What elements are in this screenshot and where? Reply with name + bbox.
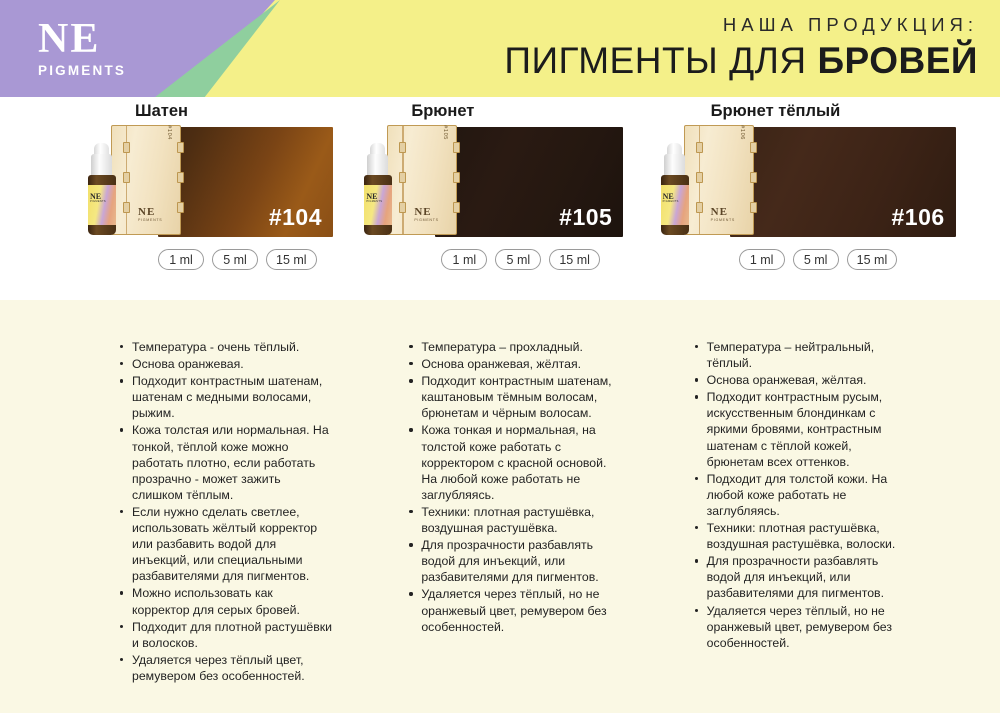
box-joint: [453, 202, 460, 213]
volume-option-15ml[interactable]: 15 ml: [847, 249, 898, 270]
description-item: Техники: плотная растушёвка, воздушная р…: [693, 520, 898, 552]
box-joint: [750, 142, 757, 153]
product-card[interactable]: Брюнет тёплый #106 #106 NEPIGMENTS N: [667, 97, 1000, 300]
bottle-body: NEPIGMENTS: [661, 175, 689, 235]
bottle-brand-label: NEPIGMENTS: [663, 193, 679, 204]
volume-options: 1 ml 5 ml 15 ml: [441, 249, 600, 270]
product-title: Брюнет: [411, 102, 474, 121]
description-item: Подходит для плотной растушёвки и волоск…: [118, 619, 333, 651]
product-title: Брюнет тёплый: [711, 102, 841, 121]
wooden-box-icon: #105 NEPIGMENTS: [387, 125, 457, 235]
bottle-brand-label: NEPIGMENTS: [90, 193, 106, 204]
product-photo: #106 NEPIGMENTS NEPIGMENTS: [658, 123, 766, 243]
header-title-bold: БРОВЕЙ: [817, 40, 978, 81]
description-item: Кожа тонкая и нормальная, на толстой кож…: [407, 422, 619, 502]
box-code-label: #104: [166, 125, 172, 140]
volume-option-1ml[interactable]: 1 ml: [158, 249, 204, 270]
box-joint: [177, 202, 184, 213]
box-joint: [696, 172, 703, 183]
header-kicker: НАША ПРОДУКЦИЯ:: [504, 14, 978, 36]
brand-logo-name: NE: [38, 20, 126, 60]
volume-options: 1 ml 5 ml 15 ml: [158, 249, 317, 270]
description-item: Для прозрачности разбавлять водой для ин…: [407, 537, 619, 585]
product-photo: #105 NEPIGMENTS NEPIGMENTS: [361, 123, 469, 243]
product-card[interactable]: Шатен #104 #104 NEPIGMENTS NEPIGMENT: [0, 97, 333, 300]
box-brand-label: NEPIGMENTS: [138, 206, 162, 222]
description-list: Температура – нейтральный, тёплый.Основа…: [693, 339, 898, 651]
header-title: ПИГМЕНТЫ ДЛЯ БРОВЕЙ: [504, 40, 978, 82]
bottle-label: NEPIGMENTS: [661, 185, 689, 225]
description-item: Температура – нейтральный, тёплый.: [693, 339, 898, 371]
description-item: Основа оранжевая, жёлтая.: [407, 356, 619, 372]
product-cards-row: Шатен #104 #104 NEPIGMENTS NEPIGMENT: [0, 97, 1000, 300]
description-item: Основа оранжевая.: [118, 356, 333, 372]
box-code-label: #106: [739, 125, 745, 140]
description-column: Температура – нейтральный, тёплый.Основа…: [667, 300, 1000, 713]
volume-option-1ml[interactable]: 1 ml: [441, 249, 487, 270]
brand-logo: NE PIGMENTS: [38, 20, 126, 78]
description-item: Температура - очень тёплый.: [118, 339, 333, 355]
description-item: Удаляется через тёплый, но не оранжевый …: [693, 603, 898, 651]
box-joint: [750, 172, 757, 183]
box-joint: [399, 202, 406, 213]
volume-option-5ml[interactable]: 5 ml: [495, 249, 541, 270]
volume-options: 1 ml 5 ml 15 ml: [739, 249, 898, 270]
pigment-bottle-icon: NEPIGMENTS: [660, 143, 690, 235]
description-item: Для прозрачности разбавлять водой для ин…: [693, 553, 898, 601]
wooden-box-icon: #104 NEPIGMENTS: [111, 125, 181, 235]
volume-option-15ml[interactable]: 15 ml: [549, 249, 600, 270]
bottle-brand-label: NEPIGMENTS: [366, 193, 382, 204]
box-joint: [453, 142, 460, 153]
volume-option-1ml[interactable]: 1 ml: [739, 249, 785, 270]
box-joint: [177, 142, 184, 153]
description-list: Температура - очень тёплый.Основа оранже…: [118, 339, 333, 684]
box-joint: [123, 172, 130, 183]
product-photo: #104 NEPIGMENTS NEPIGMENTS: [85, 123, 193, 243]
bottle-body: NEPIGMENTS: [88, 175, 116, 235]
box-joint: [399, 142, 406, 153]
description-item: Подходит контрастным шатенам, шатенам с …: [118, 373, 333, 421]
box-joint: [123, 202, 130, 213]
header-title-normal: ПИГМЕНТЫ ДЛЯ: [504, 40, 817, 81]
product-title: Шатен: [135, 102, 188, 121]
brand-logo-subtitle: PIGMENTS: [38, 63, 126, 78]
box-brand-label: NEPIGMENTS: [414, 206, 438, 222]
bottle-label: NEPIGMENTS: [88, 185, 116, 225]
product-code: #105: [559, 204, 612, 231]
description-item: Подходит для толстой кожи. На любой коже…: [693, 471, 898, 519]
descriptions-section: Температура - очень тёплый.Основа оранже…: [0, 300, 1000, 713]
description-item: Кожа толстая или нормальная. На тонкой, …: [118, 422, 333, 502]
box-joint: [399, 172, 406, 183]
box-joint: [453, 172, 460, 183]
box-joint: [696, 142, 703, 153]
page-header: NE PIGMENTS НАША ПРОДУКЦИЯ: ПИГМЕНТЫ ДЛЯ…: [0, 0, 1000, 97]
product-code: #106: [891, 204, 944, 231]
description-item: Если нужно сделать светлее, использовать…: [118, 504, 333, 584]
product-card[interactable]: Брюнет #105 #105 NEPIGMENTS NEPIGMEN: [333, 97, 666, 300]
description-column: Температура - очень тёплый.Основа оранже…: [0, 300, 333, 713]
box-brand-label: NEPIGMENTS: [711, 206, 735, 222]
box-joint: [123, 142, 130, 153]
description-item: Можно использовать как корректор для сер…: [118, 585, 333, 617]
volume-option-15ml[interactable]: 15 ml: [266, 249, 317, 270]
description-item: Подходит контрастным русым, искусственны…: [693, 389, 898, 469]
box-joint: [750, 202, 757, 213]
pigment-bottle-icon: NEPIGMENTS: [87, 143, 117, 235]
description-item: Удаляется через тёплый цвет, ремувером б…: [118, 652, 333, 684]
description-column: Температура – прохладный.Основа оранжева…: [333, 300, 666, 713]
box-code-label: #105: [442, 125, 448, 140]
description-item: Удаляется через тёплый, но не оранжевый …: [407, 586, 619, 634]
pigment-bottle-icon: NEPIGMENTS: [363, 143, 393, 235]
box-joint: [696, 202, 703, 213]
wooden-box-icon: #106 NEPIGMENTS: [684, 125, 754, 235]
description-item: Подходит контрастным шатенам, каштановым…: [407, 373, 619, 421]
product-code: #104: [269, 204, 322, 231]
description-list: Температура – прохладный.Основа оранжева…: [407, 339, 619, 635]
volume-option-5ml[interactable]: 5 ml: [793, 249, 839, 270]
volume-option-5ml[interactable]: 5 ml: [212, 249, 258, 270]
bottle-label: NEPIGMENTS: [364, 185, 392, 225]
header-text-block: НАША ПРОДУКЦИЯ: ПИГМЕНТЫ ДЛЯ БРОВЕЙ: [504, 14, 978, 82]
description-item: Основа оранжевая, жёлтая.: [693, 372, 898, 388]
description-item: Техники: плотная растушёвка, воздушная р…: [407, 504, 619, 536]
box-joint: [177, 172, 184, 183]
description-item: Температура – прохладный.: [407, 339, 619, 355]
bottle-body: NEPIGMENTS: [364, 175, 392, 235]
